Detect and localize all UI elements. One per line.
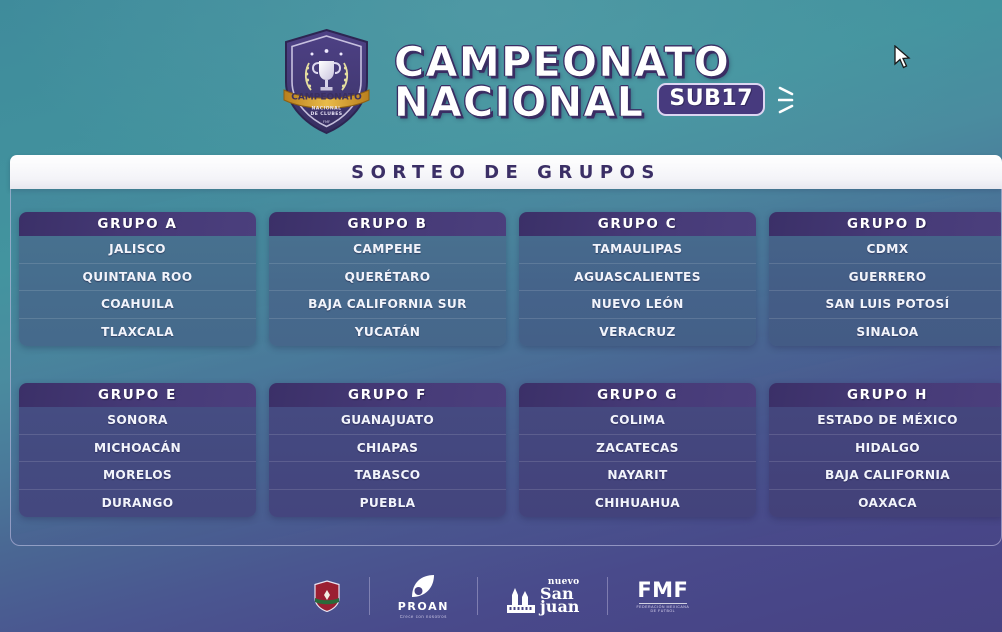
list-item[interactable]: MORELOS <box>19 462 256 490</box>
fmf-sub-label-2: DE FUTBOL <box>651 609 676 613</box>
group-header-c: GRUPO C <box>519 212 756 236</box>
title-line-2: NACIONAL <box>394 83 644 123</box>
page-title: SORTEO DE GRUPOS <box>351 162 661 183</box>
brand-lockup: CAMPEONATO NACIONAL DE CLUBES FMF CAMPEO… <box>279 27 798 137</box>
list-item[interactable]: BAJA CALIFORNIA SUR <box>269 291 506 319</box>
federation-crest-icon <box>313 580 341 612</box>
list-item[interactable]: QUERÉTARO <box>269 264 506 292</box>
sponsor-federation <box>285 573 369 619</box>
list-item[interactable]: HIDALGO <box>769 435 1002 463</box>
spark-lines-icon <box>778 83 798 117</box>
list-item[interactable]: TAMAULIPAS <box>519 236 756 264</box>
list-item[interactable]: TLAXCALA <box>19 319 256 347</box>
divider <box>639 603 687 604</box>
sponsor-fmf: FMF FEDERACIÓN MEXICANA DE FUTBOL <box>608 573 717 619</box>
group-team-list-e: SONORA MICHOACÁN MORELOS DURANGO <box>19 407 256 517</box>
group-team-list-c: TAMAULIPAS AGUASCALIENTES NUEVO LEÓN VER… <box>519 236 756 346</box>
group-header-d: GRUPO D <box>769 212 1002 236</box>
list-item[interactable]: OAXACA <box>769 490 1002 518</box>
group-team-list-a: JALISCO QUINTANA ROO COAHUILA TLAXCALA <box>19 236 256 346</box>
list-item[interactable]: CDMX <box>769 236 1002 264</box>
category-badge: SUB17 <box>657 83 765 116</box>
list-item[interactable]: DURANGO <box>19 490 256 518</box>
list-item[interactable]: CAMPEHE <box>269 236 506 264</box>
group-team-list-b: CAMPEHE QUERÉTARO BAJA CALIFORNIA SUR YU… <box>269 236 506 346</box>
list-item[interactable]: TABASCO <box>269 462 506 490</box>
crest-sub-label-3: FMF <box>323 120 330 124</box>
list-item[interactable]: SONORA <box>19 407 256 435</box>
list-item[interactable]: PUEBLA <box>269 490 506 518</box>
proan-tagline: Crece con nosotros <box>400 614 447 619</box>
group-card-f[interactable]: GRUPO F GUANAJUATO CHIAPAS TABASCO PUEBL… <box>269 383 506 517</box>
list-item[interactable]: AGUASCALIENTES <box>519 264 756 292</box>
mouse-pointer-icon <box>893 45 911 69</box>
group-header-h: GRUPO H <box>769 383 1002 407</box>
list-item[interactable]: GUANAJUATO <box>269 407 506 435</box>
group-header-g: GRUPO G <box>519 383 756 407</box>
list-item[interactable]: JALISCO <box>19 236 256 264</box>
list-item[interactable]: COAHUILA <box>19 291 256 319</box>
list-item[interactable]: COLIMA <box>519 407 756 435</box>
list-item[interactable]: NUEVO LEÓN <box>519 291 756 319</box>
group-team-list-f: GUANAJUATO CHIAPAS TABASCO PUEBLA <box>269 407 506 517</box>
group-header-f: GRUPO F <box>269 383 506 407</box>
list-item[interactable]: SINALOA <box>769 319 1002 347</box>
sponsor-nuevo-san-juan: nuevo San juan <box>478 573 607 619</box>
group-team-list-d: CDMX GUERRERO SAN LUIS POTOSÍ SINALOA <box>769 236 1002 346</box>
proan-wave-icon <box>410 573 436 599</box>
list-item[interactable]: MICHOACÁN <box>19 435 256 463</box>
crest-sub-label-2: DE CLUBES <box>311 111 343 117</box>
list-item[interactable]: YUCATÁN <box>269 319 506 347</box>
church-towers-icon <box>506 583 536 613</box>
list-item[interactable]: CHIAPAS <box>269 435 506 463</box>
group-card-d[interactable]: GRUPO D CDMX GUERRERO SAN LUIS POTOSÍ SI… <box>769 212 1002 346</box>
list-item[interactable]: CHIHUAHUA <box>519 490 756 518</box>
list-item[interactable]: VERACRUZ <box>519 319 756 347</box>
group-header-e: GRUPO E <box>19 383 256 407</box>
group-card-g[interactable]: GRUPO G COLIMA ZACATECAS NAYARIT CHIHUAH… <box>519 383 756 517</box>
crest-sub-label-1: NACIONAL <box>312 106 342 112</box>
group-card-b[interactable]: GRUPO B CAMPEHE QUERÉTARO BAJA CALIFORNI… <box>269 212 506 346</box>
sponsor-footer: PROAN Crece con nosotros <box>0 560 1002 632</box>
group-team-list-h: ESTADO DE MÉXICO HIDALGO BAJA CALIFORNIA… <box>769 407 1002 517</box>
list-item[interactable]: BAJA CALIFORNIA <box>769 462 1002 490</box>
group-team-list-g: COLIMA ZACATECAS NAYARIT CHIHUAHUA <box>519 407 756 517</box>
group-card-c[interactable]: GRUPO C TAMAULIPAS AGUASCALIENTES NUEVO … <box>519 212 756 346</box>
list-item[interactable]: NAYARIT <box>519 462 756 490</box>
groups-panel: GRUPO A JALISCO QUINTANA ROO COAHUILA TL… <box>10 189 1002 546</box>
nsj-juan-label: juan <box>540 600 579 613</box>
slide-canvas: CAMPEONATO NACIONAL DE CLUBES FMF CAMPEO… <box>0 0 1002 632</box>
fmf-wordmark-icon: FMF FEDERACIÓN MEXICANA DE FUTBOL <box>636 580 689 613</box>
list-item[interactable]: GUERRERO <box>769 264 1002 292</box>
group-card-h[interactable]: GRUPO H ESTADO DE MÉXICO HIDALGO BAJA CA… <box>769 383 1002 517</box>
group-card-a[interactable]: GRUPO A JALISCO QUINTANA ROO COAHUILA TL… <box>19 212 256 346</box>
group-header-b: GRUPO B <box>269 212 506 236</box>
proan-label: PROAN <box>398 600 449 613</box>
list-item[interactable]: QUINTANA ROO <box>19 264 256 292</box>
list-item[interactable]: ZACATECAS <box>519 435 756 463</box>
sponsor-proan: PROAN Crece con nosotros <box>370 573 477 619</box>
championship-shield-crest-icon: CAMPEONATO NACIONAL DE CLUBES FMF <box>279 27 374 137</box>
groups-grid: GRUPO A JALISCO QUINTANA ROO COAHUILA TL… <box>19 212 1002 517</box>
wordmark: CAMPEONATO NACIONAL SUB17 <box>394 41 798 123</box>
section-banner: SORTEO DE GRUPOS <box>10 155 1002 189</box>
group-card-e[interactable]: GRUPO E SONORA MICHOACÁN MORELOS DURANGO <box>19 383 256 517</box>
crest-ribbon-label: CAMPEONATO <box>291 93 362 103</box>
fmf-label: FMF <box>637 580 688 601</box>
list-item[interactable]: ESTADO DE MÉXICO <box>769 407 1002 435</box>
list-item[interactable]: SAN LUIS POTOSÍ <box>769 291 1002 319</box>
group-header-a: GRUPO A <box>19 212 256 236</box>
header: CAMPEONATO NACIONAL DE CLUBES FMF CAMPEO… <box>0 0 1002 152</box>
